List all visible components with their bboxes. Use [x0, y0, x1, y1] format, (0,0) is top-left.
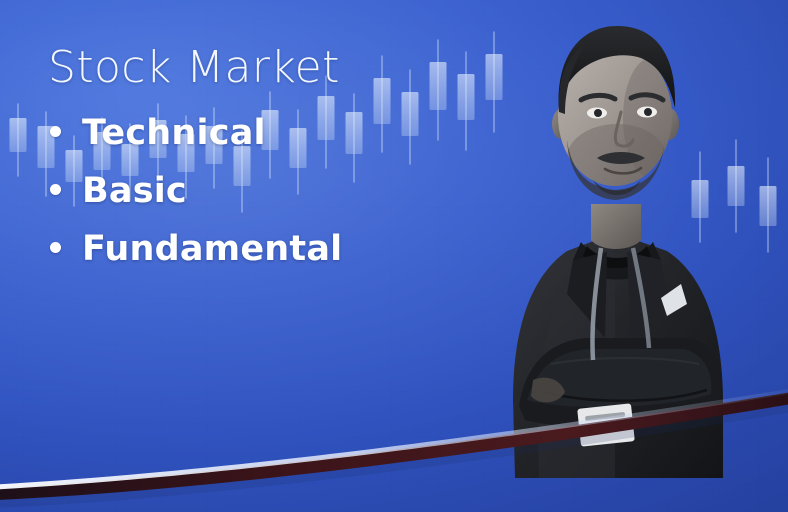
bullet-dot-icon	[50, 184, 61, 195]
page-title: Stock Market	[48, 44, 468, 92]
list-item-label: Basic	[82, 171, 187, 211]
list-item-label: Fundamental	[82, 229, 342, 269]
bullet-dot-icon	[50, 242, 61, 253]
list-item-label: Technical	[82, 113, 266, 153]
topic-list: Technical Basic Fundamental	[48, 116, 468, 267]
list-item: Fundamental	[82, 232, 468, 267]
bullet-dot-icon	[50, 126, 61, 137]
stock-market-banner: Stock Market Technical Basic Fundamental	[0, 0, 788, 512]
list-item: Basic	[82, 174, 468, 209]
copy-block: Stock Market Technical Basic Fundamental	[48, 44, 468, 267]
list-item: Technical	[82, 116, 468, 151]
